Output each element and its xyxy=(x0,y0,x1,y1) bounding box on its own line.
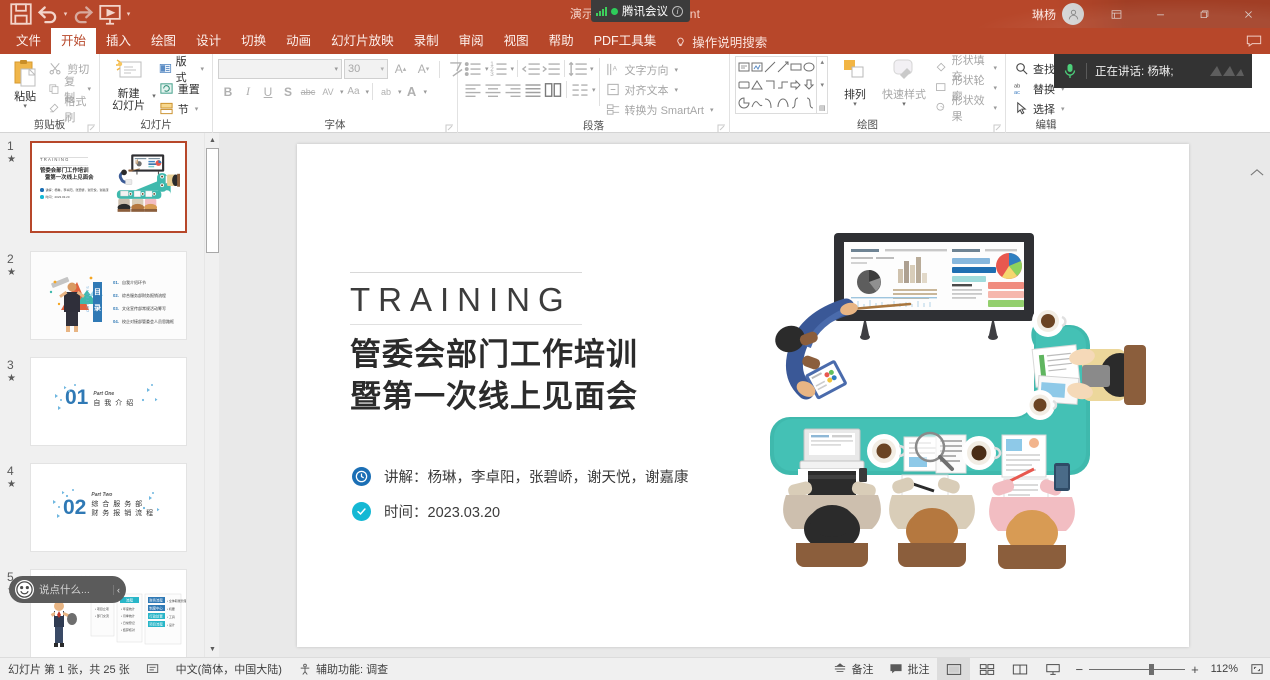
comments-icon[interactable] xyxy=(1246,34,1262,48)
clock-icon xyxy=(352,467,371,486)
align-text-button[interactable]: 对齐文本 ▾ xyxy=(603,80,717,99)
zoom-track[interactable] xyxy=(1089,669,1185,670)
notes-button[interactable]: 备注 xyxy=(825,658,881,680)
fit-window-icon xyxy=(1250,663,1264,675)
comments-button[interactable]: 批注 xyxy=(881,658,937,680)
tab-design[interactable]: 设计 xyxy=(186,28,231,54)
cursor-icon xyxy=(1014,101,1029,116)
svg-text:录: 录 xyxy=(94,304,101,312)
svg-text:ac: ac xyxy=(1014,90,1020,96)
tab-transitions[interactable]: 切换 xyxy=(231,28,276,54)
drawing-small-buttons: 形状填充 ▾ 形状轮廓 ▾ 形状效果 xyxy=(932,56,1000,117)
slideshow-view-button[interactable] xyxy=(1036,658,1069,680)
font-size-value: 30 xyxy=(348,63,360,75)
line-spacing-button[interactable] xyxy=(568,59,588,78)
layout-icon xyxy=(159,61,172,76)
zoom-out-button[interactable]: − xyxy=(1075,662,1083,677)
font-name-input[interactable]: ▾ xyxy=(218,59,342,79)
text-highlight-button[interactable]: ab xyxy=(376,82,396,101)
svg-text:02.: 02. xyxy=(113,293,119,298)
svg-text:03.: 03. xyxy=(113,306,119,311)
convert-smartart-button[interactable]: 转换为 SmartArt ▾ xyxy=(603,100,717,119)
check-icon xyxy=(352,502,371,521)
layout-button[interactable]: 版式 ▾ xyxy=(156,59,207,78)
svg-text:校企对接部管委会人员思路框: 校企对接部管委会人员思路框 xyxy=(122,318,174,324)
comment-bubble-icon xyxy=(889,663,903,675)
close-button[interactable] xyxy=(1226,0,1270,28)
slide-editing-stage: TRAINING 管委会部门工作培训 暨第一次线上见面会 讲解：杨琳，李卓阳，张… xyxy=(219,133,1270,657)
shape-curve-icon[interactable] xyxy=(763,94,776,112)
paragraph-row-1: ▾ 1 23 ▾ xyxy=(463,58,596,79)
svg-text:• 日常登记: • 日常登记 xyxy=(121,620,135,625)
arrange-label: 排列 xyxy=(844,89,866,101)
select-label: 选择 xyxy=(1033,101,1055,117)
tab-slideshow[interactable]: 幻灯片放映 xyxy=(321,28,404,54)
accessibility-icon xyxy=(298,663,312,675)
arrange-button[interactable]: 排列 ▾ xyxy=(834,56,875,109)
change-case-dropdown-icon[interactable]: ▾ xyxy=(366,88,370,96)
drawing-group-title: 绘图 xyxy=(730,118,1005,133)
svg-text:流程: 流程 xyxy=(126,598,134,603)
minimize-button[interactable] xyxy=(1138,0,1182,28)
zoom-level[interactable]: 112% xyxy=(1205,663,1244,675)
character-spacing-button[interactable]: AV xyxy=(318,82,338,101)
shape-elbow-icon[interactable] xyxy=(763,76,776,94)
status-bar-right: 备注 批注 xyxy=(825,658,1270,680)
font-dialog-launcher[interactable] xyxy=(445,123,454,132)
chat-input[interactable]: 说点什么... xyxy=(39,582,108,597)
arrange-dropdown-icon[interactable]: ▾ xyxy=(853,101,857,109)
section-button[interactable]: 节 ▾ xyxy=(156,99,207,118)
gallery-scroll-up-icon[interactable]: ▴ xyxy=(821,58,825,66)
svg-text:文化宣传部常规活动筹写: 文化宣传部常规活动筹写 xyxy=(122,305,166,311)
bullets-button[interactable] xyxy=(463,59,483,78)
smartart-dropdown-icon[interactable]: ▾ xyxy=(710,106,714,114)
title-bar: ▾ ▾ 演示文稿1 - PowerPoint 腾讯会议 i 琳杨 xyxy=(0,0,1270,28)
align-text-icon xyxy=(606,82,621,97)
paste-button[interactable]: 粘贴 ▾ xyxy=(5,57,45,111)
powerpoint-window: ▾ ▾ 演示文稿1 - PowerPoint 腾讯会议 i 琳杨 xyxy=(0,0,1270,680)
avatar[interactable] xyxy=(1062,3,1084,25)
replace-label: 替换 xyxy=(1033,81,1055,97)
tabstrip-right xyxy=(1246,28,1270,54)
paragraph-left-columns: ▾ 1 23 ▾ xyxy=(463,58,596,100)
scroll-down-button[interactable]: ▼ xyxy=(205,642,220,657)
slide-eyebrow-text[interactable]: TRAINING xyxy=(350,281,572,319)
animation-star-icon: ★ xyxy=(7,154,16,165)
paintbrush-icon xyxy=(48,101,60,116)
numbering-dropdown-icon[interactable]: ▾ xyxy=(511,65,515,73)
shape-line-icon[interactable] xyxy=(763,58,776,76)
shape-right-arrow-icon[interactable] xyxy=(789,76,802,94)
ribbon-group-slides: 新建 幻灯片 ▾ 版式 ▾ xyxy=(100,54,213,133)
italic-button[interactable]: I xyxy=(238,82,258,101)
slides-small-buttons: 版式 ▾ 重置 xyxy=(156,57,207,118)
text-direction-columns-button[interactable] xyxy=(570,80,590,99)
gallery-expand-icon[interactable]: ▤ xyxy=(819,104,826,112)
thumbnail-slide-3[interactable]: 01 Part One 自 我 介 绍 xyxy=(30,357,187,446)
svg-text:CONTENTS: CONTENTS xyxy=(86,285,90,312)
title-divider-bottom xyxy=(350,324,582,325)
shape-effects-dropdown-icon[interactable]: ▾ xyxy=(993,104,997,112)
shape-outline-dropdown-icon[interactable]: ▾ xyxy=(993,84,997,92)
shape-outline-icon xyxy=(935,80,947,95)
svg-text:行政处置: 行政处置 xyxy=(149,614,163,619)
scissors-icon xyxy=(48,61,63,76)
svg-text:目: 目 xyxy=(94,288,101,296)
strikethrough-button[interactable]: abc xyxy=(298,82,318,101)
copy-icon xyxy=(48,81,60,96)
paragraph-row-2: ▾ xyxy=(463,79,596,100)
shape-arrow-icon[interactable] xyxy=(776,58,789,76)
svg-text:综合服务部财务报销流程: 综合服务部财务报销流程 xyxy=(122,292,166,298)
chat-collapse-button[interactable]: ‹ xyxy=(113,585,120,595)
text-direction-icon: A xyxy=(606,62,621,77)
align-center-button[interactable] xyxy=(483,80,503,99)
paste-label: 粘贴 xyxy=(14,91,36,103)
accessibility-indicator[interactable]: 辅助功能: 调查 xyxy=(290,658,396,680)
thumbnail-slide-1[interactable]: TRAINING 管委会部门工作培训暨第一次线上见面会 讲解：杨琳，李卓阳，张碧… xyxy=(30,141,187,233)
svg-text:财务流程: 财务流程 xyxy=(149,598,163,603)
find-label: 查找 xyxy=(1033,61,1055,77)
clipboard-group-title: 剪贴板 xyxy=(0,118,99,133)
text-direction-label: 文字方向 xyxy=(625,62,669,78)
tab-file[interactable]: 文件 xyxy=(6,28,51,54)
quick-styles-dropdown-icon[interactable]: ▾ xyxy=(902,101,906,109)
animation-star-icon: ★ xyxy=(7,373,16,384)
columns-dropdown-icon[interactable]: ▾ xyxy=(592,86,596,94)
title-divider-top xyxy=(350,272,582,273)
decrease-indent-button[interactable] xyxy=(521,59,541,78)
svg-text:A: A xyxy=(612,65,617,72)
tab-help[interactable]: 帮助 xyxy=(539,28,584,54)
svg-text:• 工具: • 工具 xyxy=(167,614,175,619)
select-button[interactable]: 选择 ▾ xyxy=(1011,99,1068,118)
svg-text:• 结算核对: • 结算核对 xyxy=(121,627,135,632)
text-direction-button[interactable]: A 文字方向 ▾ xyxy=(603,60,717,79)
underline-button[interactable]: U xyxy=(258,82,278,101)
shape-rectangle-icon[interactable] xyxy=(789,58,802,76)
shape-connector-icon[interactable] xyxy=(776,76,789,94)
columns-button[interactable] xyxy=(543,80,563,99)
font-color-dropdown-icon[interactable]: ▾ xyxy=(424,88,428,96)
thumbnail-scrollbar[interactable]: ▲ ▼ xyxy=(204,133,219,657)
numbering-button[interactable]: 1 23 xyxy=(489,59,509,78)
presenter-text: 讲解：杨琳，李卓阳，张碧峤，谢天悦，谢嘉康 xyxy=(384,466,689,487)
svg-text:ab: ab xyxy=(1014,84,1020,90)
shape-triangle-icon[interactable] xyxy=(750,76,763,94)
svg-text:• 全体职能管理: • 全体职能管理 xyxy=(167,598,187,603)
zoom-slider[interactable]: − + xyxy=(1069,662,1204,677)
tab-view[interactable]: 视图 xyxy=(494,28,539,54)
tab-pdf-toolkit[interactable]: PDF工具集 xyxy=(584,28,667,54)
convert-smartart-label: 转换为 SmartArt xyxy=(625,102,704,118)
date-text: 时间：2023.03.20 xyxy=(384,501,500,522)
ribbon-group-paragraph: ▾ 1 23 ▾ xyxy=(458,54,730,133)
slide-sorter-button[interactable] xyxy=(970,658,1003,680)
font-size-dropdown-icon[interactable]: ▾ xyxy=(380,65,384,73)
thumbnail-row-4[interactable]: 4 ★ 02 Part Two 综 合 服 务 部 财 务 报 销 流 程 xyxy=(0,458,204,564)
thumbnail-number: 2 xyxy=(7,252,14,266)
text-direction-dropdown-icon[interactable]: ▾ xyxy=(675,66,679,74)
reading-view-icon xyxy=(1012,663,1028,676)
thumbnail-slide-4[interactable]: 02 Part Two 综 合 服 务 部 财 务 报 销 流 程 xyxy=(30,463,187,552)
shape-effects-button[interactable]: 形状效果 ▾ xyxy=(932,98,1000,117)
meeting-chat-widget[interactable]: 说点什么... ‹ xyxy=(9,576,126,603)
shape-oval-icon[interactable] xyxy=(802,58,815,76)
animation-star-icon: ★ xyxy=(7,267,16,278)
zoom-in-button[interactable]: + xyxy=(1191,662,1199,677)
svg-text:制度中心: 制度中心 xyxy=(149,606,163,611)
align-right-button[interactable] xyxy=(503,80,523,99)
shapes-gallery-scrollbar[interactable]: ▴ ▾ ▤ xyxy=(816,57,827,113)
align-text-label: 对齐文本 xyxy=(625,82,669,98)
arrange-icon xyxy=(841,58,869,87)
signal-icon xyxy=(596,7,607,16)
tab-draw[interactable]: 绘图 xyxy=(141,28,186,54)
thumbnail-number: 1 xyxy=(7,139,14,153)
thumbnail-row-2[interactable]: 2 ★ 01. 自我介绍环节 0 xyxy=(0,246,204,352)
svg-text:04.: 04. xyxy=(113,319,119,324)
ribbon-group-drawing: ▴ ▾ ▤ 排列 ▾ xyxy=(730,54,1006,133)
new-slide-label: 新建 幻灯片 xyxy=(112,88,145,112)
tencent-meeting-label: 腾讯会议 xyxy=(622,3,668,19)
font-row-top: ▾ 30 ▾ A▴ A▾ xyxy=(218,59,466,79)
notes-icon xyxy=(833,663,847,675)
font-name-dropdown-icon[interactable]: ▾ xyxy=(334,65,338,73)
svg-text:• 设计: • 设计 xyxy=(167,622,175,627)
paste-dropdown-icon[interactable]: ▾ xyxy=(23,103,27,111)
new-slide-icon xyxy=(115,59,143,86)
normal-view-icon xyxy=(946,663,962,676)
smartart-icon xyxy=(606,102,621,117)
status-dot-icon xyxy=(611,8,618,15)
shape-arc-icon[interactable] xyxy=(776,94,789,112)
spell-check-icon[interactable] xyxy=(138,658,168,680)
thumbnail-slide-2[interactable]: 01. 自我介绍环节 02. 综合服务部财务报销流程 03. 文化宣传部常规活动… xyxy=(30,251,187,340)
normal-view-button[interactable] xyxy=(937,658,970,680)
svg-text:• 年度统计: • 年度统计 xyxy=(121,606,135,611)
svg-text:• 项目立项: • 项目立项 xyxy=(95,606,109,611)
language-indicator[interactable]: 中文(简体，中国大陆) xyxy=(168,658,290,680)
layout-dropdown-icon[interactable]: ▾ xyxy=(200,65,204,73)
tab-record[interactable]: 录制 xyxy=(404,28,449,54)
reset-icon xyxy=(159,81,174,96)
speaking-status-text: 正在讲话: 杨琳; xyxy=(1095,63,1174,79)
shape-effects-icon xyxy=(935,100,947,115)
align-text-dropdown-icon[interactable]: ▾ xyxy=(675,86,679,94)
justify-button[interactable] xyxy=(523,80,543,99)
text-shadow-button[interactable]: S xyxy=(278,82,298,101)
reset-button[interactable]: 重置 xyxy=(156,79,207,98)
quick-styles-icon xyxy=(890,58,918,87)
decrease-font-size-button[interactable]: A▾ xyxy=(413,59,434,79)
reset-label: 重置 xyxy=(178,81,200,97)
tencent-meeting-logo-icon xyxy=(1210,64,1244,78)
change-case-button[interactable]: Aa xyxy=(344,82,364,101)
font-size-input[interactable]: 30 ▾ xyxy=(344,59,388,79)
increase-font-size-button[interactable]: A▴ xyxy=(390,59,411,79)
editing-group-title: 编辑 xyxy=(1006,118,1086,133)
lightbulb-icon xyxy=(674,35,687,48)
slide-indicator[interactable]: 幻灯片 第 1 张，共 25 张 xyxy=(0,658,138,680)
present-icon xyxy=(1045,663,1061,676)
thumbnail-row-3[interactable]: 3 ★ 01 Part One 自 我 介 绍 xyxy=(0,352,204,458)
ribbon-group-font: ▾ 30 ▾ A▴ A▾ B xyxy=(213,54,458,133)
svg-text:3: 3 xyxy=(490,70,494,77)
title-bar-right: 琳杨 xyxy=(1032,0,1270,28)
info-icon[interactable]: i xyxy=(672,6,683,17)
svg-text:01.: 01. xyxy=(113,280,119,285)
tab-review[interactable]: 审阅 xyxy=(449,28,494,54)
shape-fill-dropdown-icon[interactable]: ▾ xyxy=(993,64,997,72)
slide-date-line[interactable]: 时间：2023.03.20 xyxy=(352,501,500,522)
copy-dropdown-icon[interactable]: ▾ xyxy=(87,85,91,93)
animation-star-icon: ★ xyxy=(7,479,16,490)
shape-square-icon[interactable] xyxy=(737,76,750,94)
svg-text:项目流程: 项目流程 xyxy=(149,622,163,627)
shape-down-arrow-icon[interactable] xyxy=(802,76,815,94)
paste-icon xyxy=(12,59,38,89)
tell-me-label: 操作说明搜索 xyxy=(692,32,767,51)
shapes-gallery[interactable]: ▴ ▾ ▤ xyxy=(735,56,828,114)
scrollbar-thumb[interactable] xyxy=(206,148,219,253)
tab-insert[interactable]: 插入 xyxy=(96,28,141,54)
slide-sorter-icon xyxy=(979,663,995,676)
quick-styles-label: 快速样式 xyxy=(882,89,926,101)
new-slide-button[interactable]: 新建 幻灯片 xyxy=(105,57,152,112)
shapes-grid xyxy=(736,57,816,113)
collapse-ribbon-button[interactable] xyxy=(1250,168,1264,180)
shape-pie-icon[interactable] xyxy=(737,94,750,112)
meeting-illustration[interactable] xyxy=(752,229,1152,579)
scroll-up-button[interactable]: ▲ xyxy=(205,133,220,148)
zoom-knob[interactable] xyxy=(1149,664,1154,675)
paragraph-group-title: 段落 xyxy=(458,119,729,133)
tab-animations[interactable]: 动画 xyxy=(276,28,321,54)
quick-styles-button[interactable]: 快速样式 ▾ xyxy=(882,56,927,109)
slides-group-title: 幻灯片 xyxy=(100,118,212,133)
replace-icon: abac xyxy=(1014,81,1029,96)
overlay-divider xyxy=(1086,63,1087,79)
shape-recent-icon[interactable] xyxy=(750,58,763,76)
tab-home[interactable]: 开始 xyxy=(51,28,96,54)
maximize-restore-button[interactable] xyxy=(1182,0,1226,28)
tell-me-search[interactable]: 操作说明搜索 xyxy=(666,28,767,54)
shape-freeform-icon[interactable] xyxy=(750,94,763,112)
section-label: 节 xyxy=(178,101,189,117)
clipboard-dialog-launcher[interactable] xyxy=(87,123,96,132)
current-slide[interactable]: TRAINING 管委会部门工作培训 暨第一次线上见面会 讲解：杨琳，李卓阳，张… xyxy=(297,144,1189,647)
font-color-button[interactable]: A xyxy=(402,82,422,101)
align-left-button[interactable] xyxy=(463,80,483,99)
clipboard-small-buttons: 剪切 复制 ▾ xyxy=(45,57,94,118)
thumbnail-row-1[interactable]: 1 ★ TRAINING 管委会部门工作培训暨第一次线上见面会 讲解：杨琳，李卓… xyxy=(0,133,204,246)
tencent-speaking-overlay[interactable]: 正在讲话: 杨琳; xyxy=(1054,54,1252,88)
microphone-icon[interactable] xyxy=(1062,62,1078,80)
svg-text:自我介绍环节: 自我介绍环节 xyxy=(122,279,146,285)
account-name: 琳杨 xyxy=(1032,6,1056,23)
slide-heading[interactable]: 管委会部门工作培训 暨第一次线上见面会 xyxy=(350,334,638,418)
ribbon-group-clipboard: 粘贴 ▾ 剪切 xyxy=(0,54,100,133)
shape-fill-icon xyxy=(935,60,947,75)
select-dropdown-icon[interactable]: ▾ xyxy=(1061,105,1065,113)
section-dropdown-icon[interactable]: ▾ xyxy=(195,105,199,113)
bold-button[interactable]: B xyxy=(218,82,238,101)
svg-text:• 机要: • 机要 xyxy=(167,606,175,611)
emoji-icon[interactable] xyxy=(15,580,34,599)
font-row-bottom: B I U S abc AV ▾ Aa ▾ ab ▾ A ▾ xyxy=(218,82,427,101)
drawing-dialog-launcher[interactable] xyxy=(993,123,1002,132)
paragraph-dialog-launcher[interactable] xyxy=(717,123,726,132)
line-spacing-dropdown-icon[interactable]: ▾ xyxy=(590,65,594,73)
status-bar: 幻灯片 第 1 张，共 25 张 中文(简体，中国大陆) 辅助功能: 调查 备注 xyxy=(0,657,1270,680)
section-icon xyxy=(159,101,174,116)
fit-to-window-button[interactable] xyxy=(1244,658,1270,680)
tencent-meeting-badge[interactable]: 腾讯会议 i xyxy=(591,0,690,22)
ribbon-display-options-icon[interactable] xyxy=(1094,0,1138,28)
shape-textbox-icon[interactable] xyxy=(737,58,750,76)
shape-left-brace-icon[interactable] xyxy=(789,94,802,112)
slide-presenter-line[interactable]: 讲解：杨琳，李卓阳，张碧峤，谢天悦，谢嘉康 xyxy=(352,466,689,487)
thumbnail-number: 3 xyxy=(7,358,14,372)
svg-text:• 部门交流: • 部门交流 xyxy=(95,613,109,618)
gallery-scroll-down-icon[interactable]: ▾ xyxy=(821,81,825,89)
shape-right-brace-icon[interactable] xyxy=(802,94,815,112)
font-group-title: 字体 xyxy=(213,118,457,133)
format-painter-button[interactable]: 格式刷 xyxy=(45,99,94,118)
svg-text:• 月季统计: • 月季统计 xyxy=(121,613,135,618)
search-icon xyxy=(1014,61,1029,76)
ribbon-tabs: 文件 开始 插入 绘图 设计 切换 动画 幻灯片放映 录制 审阅 视图 帮助 P… xyxy=(0,28,1270,54)
increase-indent-button[interactable] xyxy=(541,59,561,78)
thumbnail-number: 4 xyxy=(7,464,14,478)
reading-view-button[interactable] xyxy=(1003,658,1036,680)
paragraph-right-buttons: A 文字方向 ▾ 对齐文本 ▾ xyxy=(603,58,717,119)
